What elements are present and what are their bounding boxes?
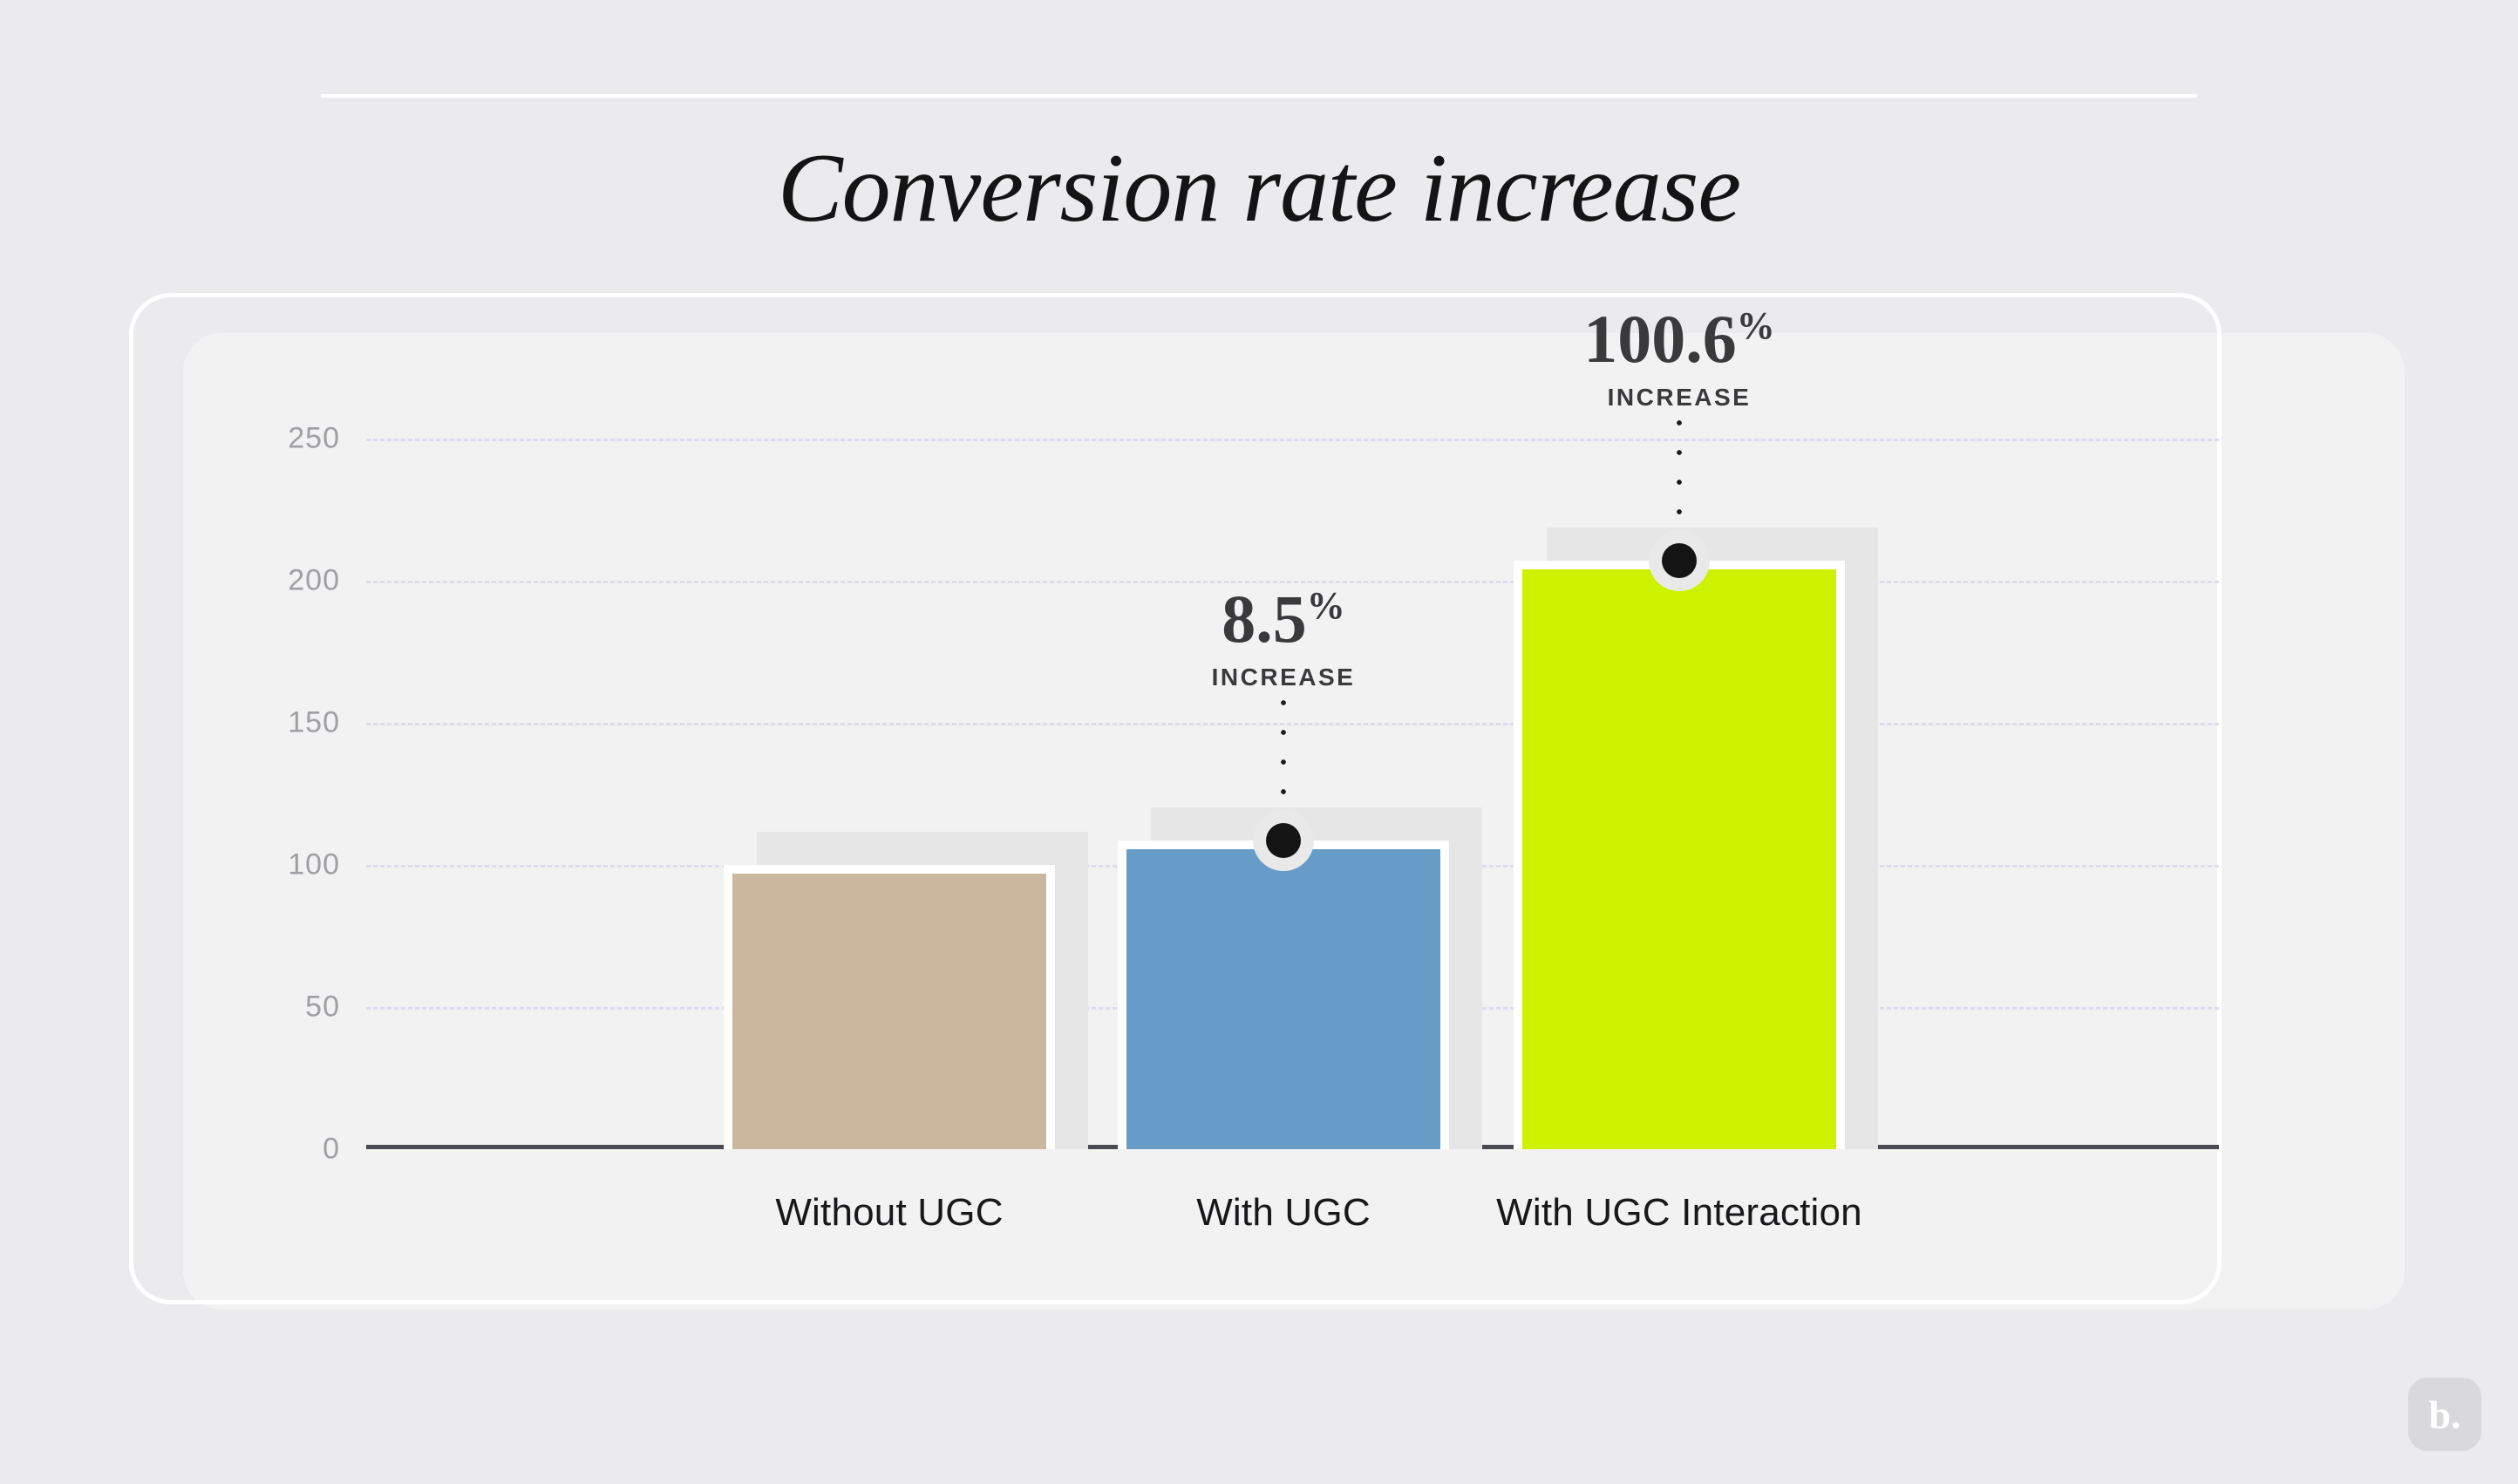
marker-dot bbox=[1266, 823, 1301, 858]
data-label-callout: 100.6%INCREASE bbox=[1583, 305, 1775, 412]
data-label-caption: INCREASE bbox=[1583, 384, 1775, 412]
bar-with-ugc-interaction[interactable] bbox=[1514, 561, 1845, 1149]
leader-line bbox=[1278, 688, 1289, 806]
percent-sign: % bbox=[1307, 584, 1345, 627]
chart-plot-area: 050100150200250 bbox=[366, 410, 2219, 1149]
y-axis-tick-label: 100 bbox=[288, 848, 340, 882]
marker-dot bbox=[1662, 543, 1697, 578]
bar-group[interactable] bbox=[1118, 841, 1449, 1149]
gridline bbox=[366, 439, 2219, 441]
chart-canvas: 050100150200250 bbox=[366, 410, 2219, 1149]
bar-without-ugc[interactable] bbox=[724, 865, 1055, 1149]
percent-sign: % bbox=[1737, 304, 1775, 347]
slide-root: Conversion rate increase 050100150200250… bbox=[0, 0, 2518, 1484]
data-label-value: 8.5% bbox=[1212, 585, 1356, 653]
y-axis-tick-label: 200 bbox=[288, 563, 340, 597]
y-axis-tick-label: 250 bbox=[288, 421, 340, 455]
y-axis-tick-label: 150 bbox=[288, 705, 340, 739]
x-axis-label: With UGC Interaction bbox=[1496, 1191, 1862, 1235]
brand-logo: b. bbox=[2408, 1378, 2481, 1451]
top-divider bbox=[321, 94, 2197, 98]
bar-group[interactable] bbox=[724, 865, 1055, 1149]
data-label-callout: 8.5%INCREASE bbox=[1212, 585, 1356, 691]
y-axis-tick-label: 0 bbox=[323, 1133, 340, 1167]
y-axis-tick-label: 50 bbox=[305, 990, 340, 1024]
x-axis-label: With UGC bbox=[1196, 1191, 1371, 1235]
x-axis-label: Without UGC bbox=[775, 1191, 1003, 1235]
leader-line bbox=[1674, 408, 1684, 526]
bar-group[interactable] bbox=[1514, 561, 1845, 1149]
page-title: Conversion rate increase bbox=[0, 140, 2518, 237]
bar-with-ugc[interactable] bbox=[1118, 841, 1449, 1149]
data-label-caption: INCREASE bbox=[1212, 664, 1356, 691]
data-label-value: 100.6% bbox=[1583, 305, 1775, 373]
gridline bbox=[366, 723, 2219, 725]
